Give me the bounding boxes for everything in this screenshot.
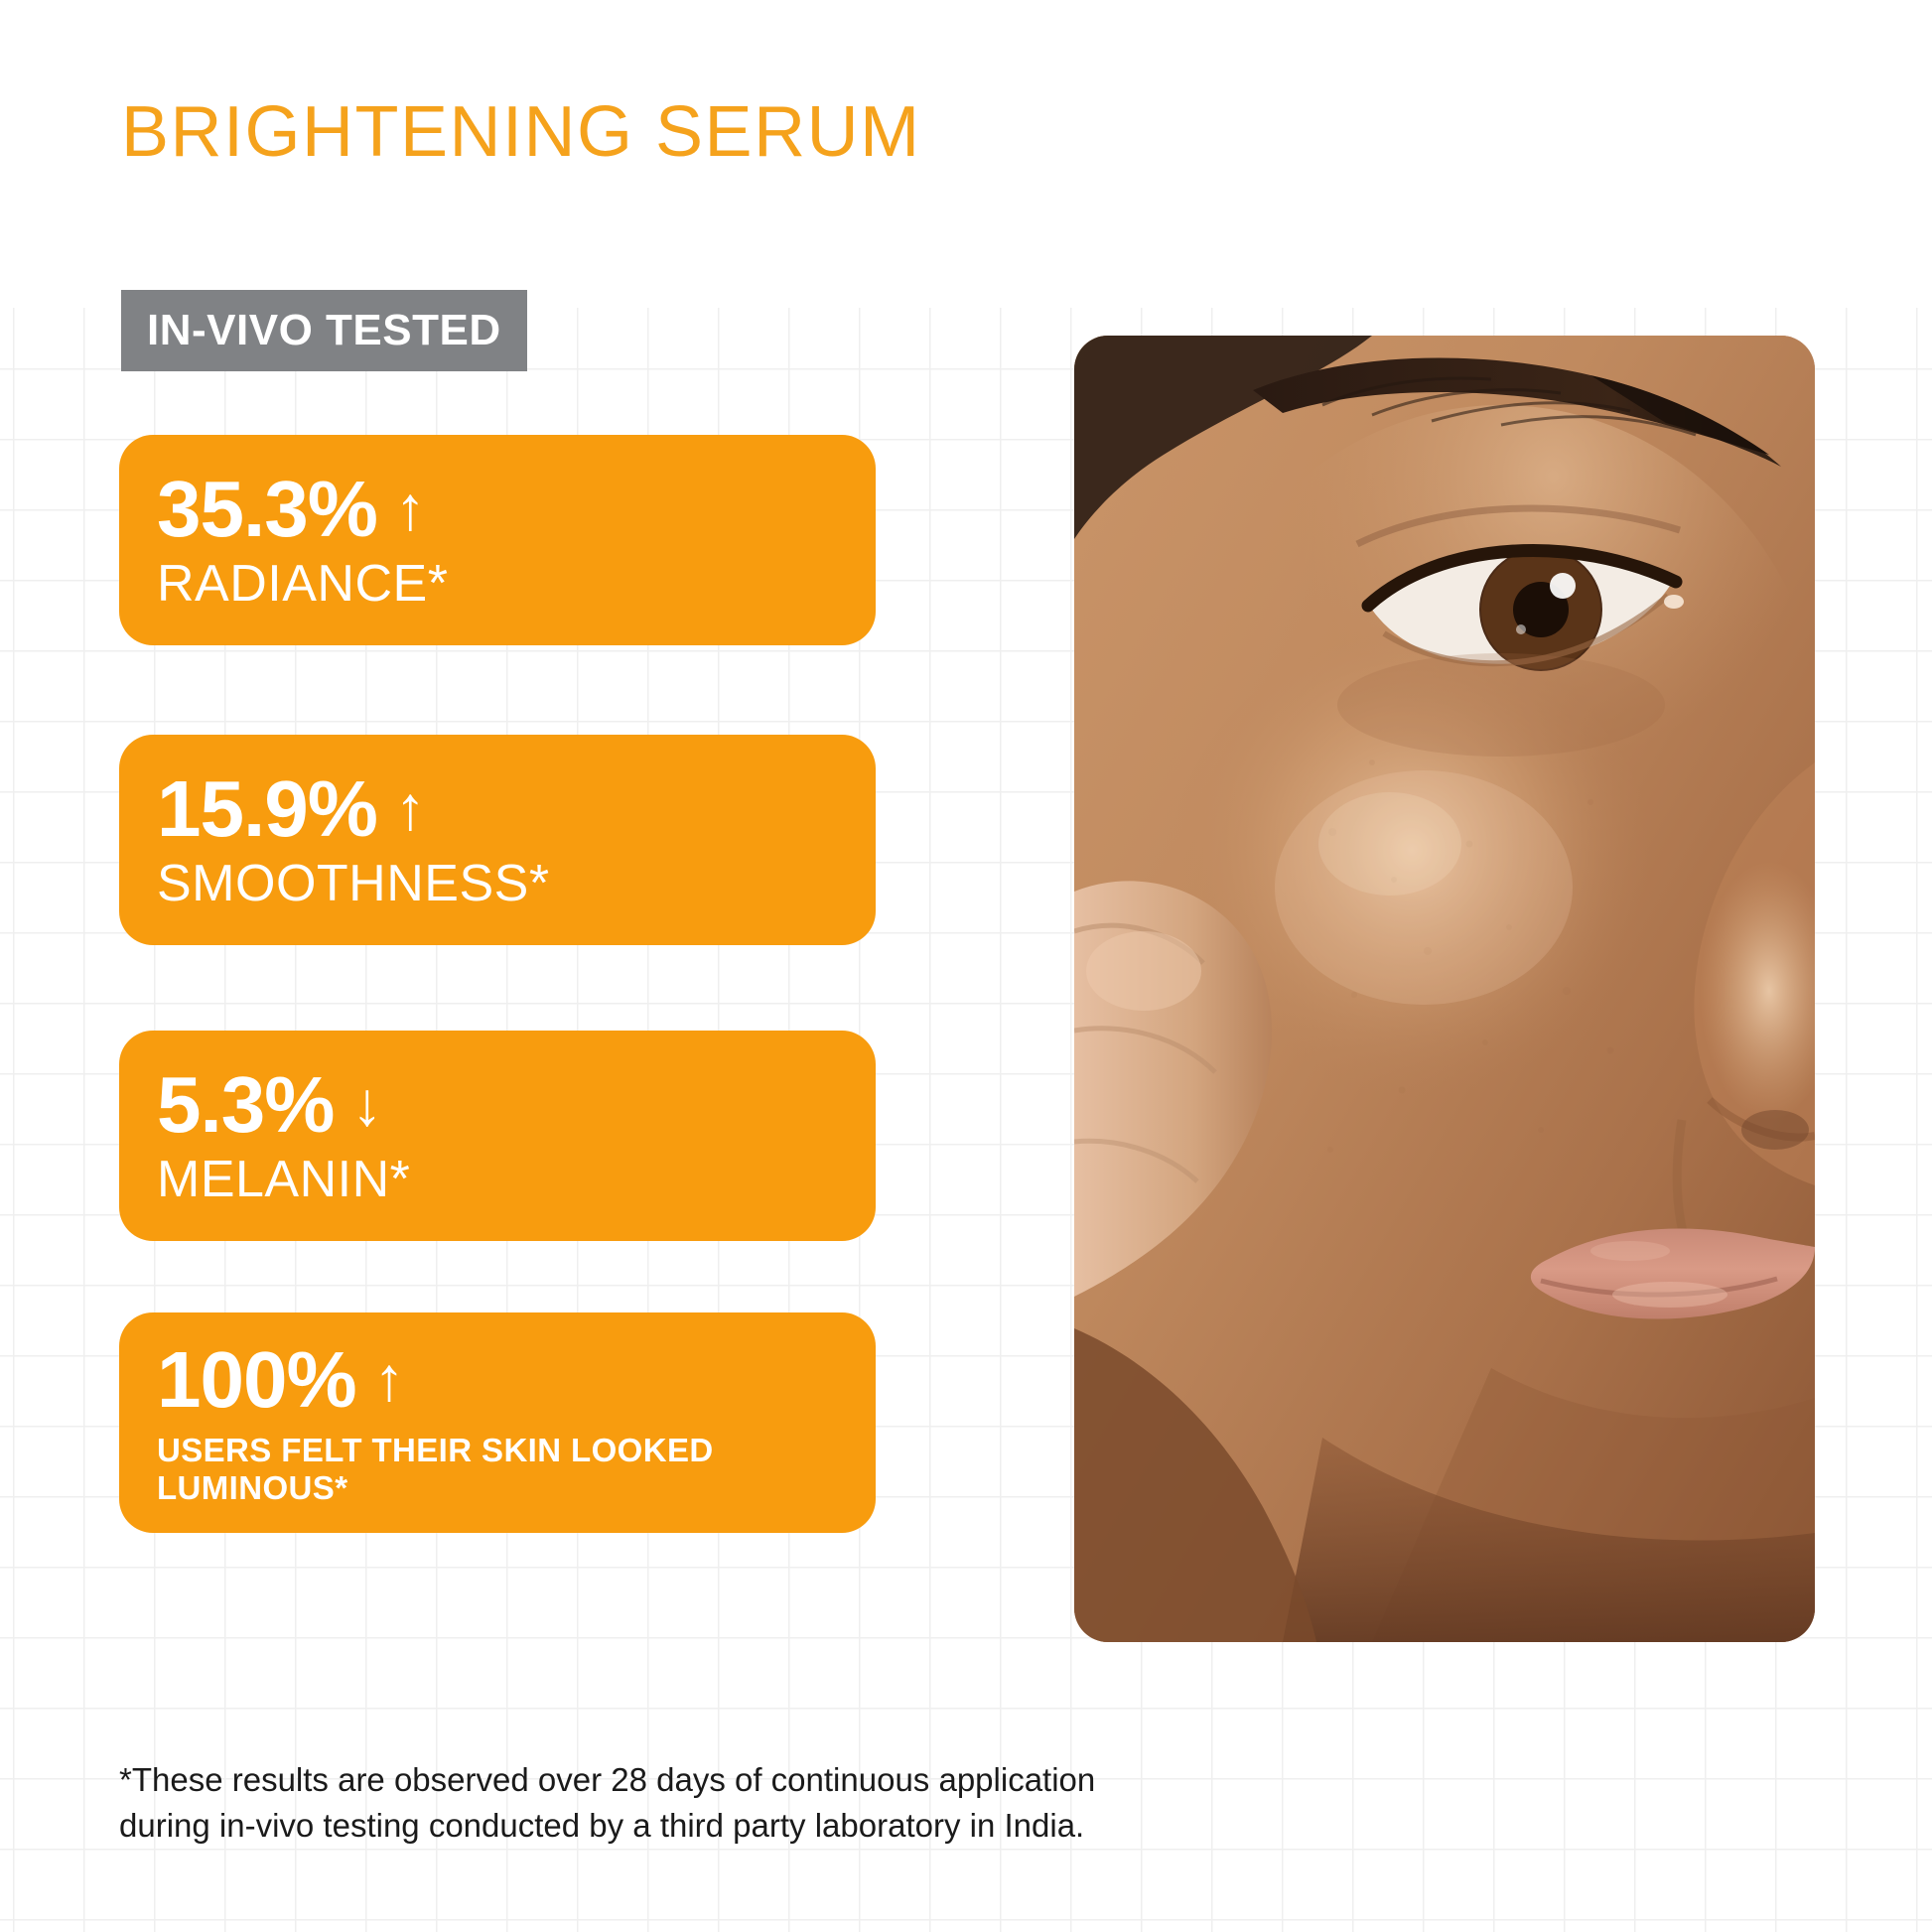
infographic-page: BRIGHTENING SERUM IN-VIVO TESTED 35.3% ↑… <box>0 0 1932 1932</box>
stat-value: 35.3% <box>157 468 377 551</box>
stat-value: 15.9% <box>157 767 377 851</box>
arrow-up-icon: ↑ <box>374 1349 405 1411</box>
stat-label: SMOOTHNESS* <box>157 855 876 912</box>
in-vivo-tested-badge: IN-VIVO TESTED <box>121 290 527 371</box>
stat-card-radiance: 35.3% ↑ RADIANCE* <box>119 435 876 645</box>
stat-card-smoothness: 15.9% ↑ SMOOTHNESS* <box>119 735 876 945</box>
stat-label: USERS FELT THEIR SKIN LOOKED LUMINOUS* <box>157 1432 876 1507</box>
stat-value-row: 100% ↑ <box>157 1338 876 1422</box>
badge-label: IN-VIVO TESTED <box>147 309 501 352</box>
arrow-up-icon: ↑ <box>395 479 426 540</box>
page-title: BRIGHTENING SERUM <box>121 91 921 173</box>
stat-card-melanin: 5.3% ↓ MELANIN* <box>119 1031 876 1241</box>
stat-label: RADIANCE* <box>157 555 876 613</box>
stat-value-row: 5.3% ↓ <box>157 1063 876 1147</box>
stat-value: 5.3% <box>157 1063 334 1147</box>
model-photo-illustration <box>1074 336 1815 1642</box>
arrow-up-icon: ↑ <box>395 778 426 840</box>
footnote-line-2: during in-vivo testing conducted by a th… <box>119 1803 1291 1849</box>
footnote-line-1: *These results are observed over 28 days… <box>119 1757 1291 1803</box>
stat-label: MELANIN* <box>157 1151 876 1208</box>
stat-card-luminous: 100% ↑ USERS FELT THEIR SKIN LOOKED LUMI… <box>119 1312 876 1533</box>
stat-value: 100% <box>157 1338 356 1422</box>
stat-value-row: 15.9% ↑ <box>157 767 876 851</box>
footnote: *These results are observed over 28 days… <box>119 1757 1291 1849</box>
arrow-down-icon: ↓ <box>351 1074 382 1136</box>
model-photo <box>1074 336 1815 1642</box>
stat-value-row: 35.3% ↑ <box>157 468 876 551</box>
